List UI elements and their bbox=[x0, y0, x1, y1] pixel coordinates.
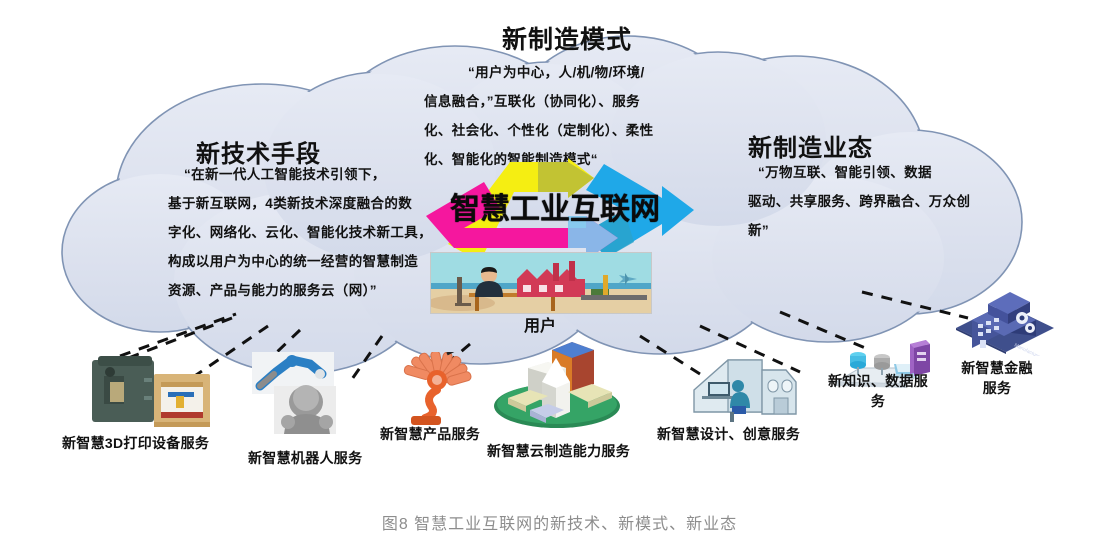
cloud-body-line: 构成以用户为中心的统一经营的智慧制造 bbox=[168, 247, 458, 276]
service-label-product: 新智慧产品服务 bbox=[380, 424, 480, 444]
cloud-body-line: 字化、网络化、云化、智能化技术新工具， bbox=[168, 218, 458, 247]
factory-cluster-icon bbox=[490, 338, 625, 430]
cloud-body-line: “用户为中心，人/机/物/环境/ bbox=[424, 58, 724, 87]
service-label-design: 新智慧设计、创意服务 bbox=[657, 424, 800, 444]
service-label-finance: 新智慧金融 服务 bbox=[952, 358, 1042, 398]
cloud-body-new-manufacturing-format: “万物互联、智能引领、数据 驱动、共享服务、跨界融合、万众创 新” bbox=[748, 158, 988, 245]
cloud-body-line: 驱动、共享服务、跨界融合、万众创 bbox=[748, 187, 988, 216]
cloud-body-line: 信息融合，”互联化（协同化）、服务 bbox=[424, 87, 724, 116]
user-illustration bbox=[430, 252, 652, 314]
service-icon-factory-cluster bbox=[490, 338, 625, 430]
3d-printer-icon bbox=[88, 352, 213, 430]
figure-canvas: 新制造模式 新技术手段 新制造业态 “用户为中心，人/机/物/环境/ 信息融合，… bbox=[0, 0, 1119, 544]
service-label-knowledge-data: 新知识、数据服 务 bbox=[824, 371, 932, 411]
cloud-body-line: “在新一代人工智能技术引领下， bbox=[168, 160, 458, 189]
robot-arm-product-icon bbox=[385, 352, 495, 428]
service-label-cloud-manufacturing: 新智慧云制造能力服务 bbox=[487, 441, 630, 461]
cloud-body-line: 资源、产品与能力的服务云（网）” bbox=[168, 276, 458, 305]
industrial-robot-icon bbox=[252, 352, 362, 434]
service-label-3d-printer: 新智慧3D打印设备服务 bbox=[62, 433, 209, 453]
home-office-icon bbox=[688, 352, 806, 424]
service-icon-3d-printer bbox=[88, 352, 213, 430]
service-icon-industrial-robot bbox=[252, 352, 362, 434]
svg-text:Manufacture: Manufacture bbox=[1013, 342, 1041, 356]
center-banner-label: 智慧工业互联网 bbox=[430, 184, 680, 228]
service-icon-home-office bbox=[688, 352, 806, 424]
cloud-body-new-manufacturing-mode: “用户为中心，人/机/物/环境/ 信息融合，”互联化（协同化）、服务 化、社会化… bbox=[424, 58, 724, 174]
cloud-title-new-manufacturing-mode: 新制造模式 bbox=[502, 20, 632, 56]
user-scene-svg bbox=[431, 253, 651, 313]
cloud-body-line: “万物互联、智能引领、数据 bbox=[748, 158, 988, 187]
figure-caption: 图8 智慧工业互联网的新技术、新模式、新业态 bbox=[0, 510, 1119, 534]
service-icon-robot-arm-product bbox=[385, 352, 495, 428]
bank-building-icon: Manufacture bbox=[950, 284, 1060, 356]
cloud-body-line: 新” bbox=[748, 216, 988, 245]
cloud-body-line: 基于新互联网，4类新技术深度融合的数 bbox=[168, 189, 458, 218]
user-label: 用户 bbox=[430, 312, 650, 336]
service-label-industrial-robot: 新智慧机器人服务 bbox=[248, 448, 362, 468]
cloud-body-line: 化、社会化、个性化（定制化）、柔性 bbox=[424, 116, 724, 145]
cloud-body-new-technology-means: “在新一代人工智能技术引领下， 基于新互联网，4类新技术深度融合的数 字化、网络… bbox=[168, 160, 458, 305]
service-icon-bank-building: Manufacture bbox=[950, 284, 1060, 356]
